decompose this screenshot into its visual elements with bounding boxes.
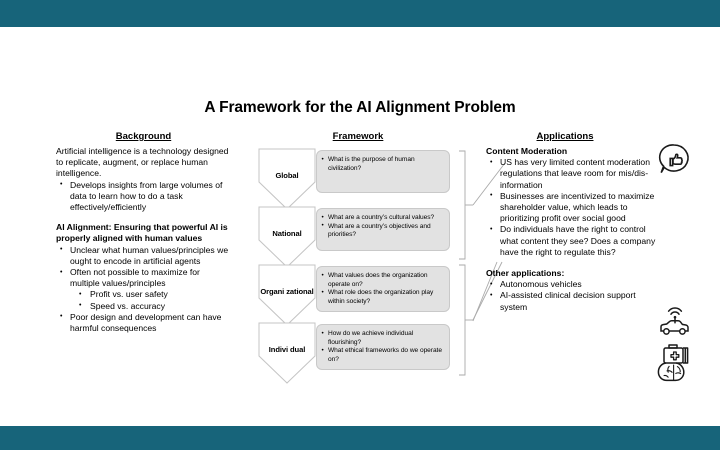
list-item: What are a country’s cultural values? xyxy=(322,214,443,223)
bottom-accent-bar xyxy=(0,426,720,450)
list-item: Develops insights from large volumes of … xyxy=(56,180,231,214)
list-item: Businesses are incentivized to maximize … xyxy=(486,191,661,225)
content-moderation-heading: Content Moderation xyxy=(486,146,661,157)
framework-level-national[interactable]: National What are a country’s cultural v… xyxy=(258,206,458,261)
list-item: What are a country’s objectives and prio… xyxy=(322,223,443,240)
framework-question-box: What is the purpose of human civilizatio… xyxy=(316,150,450,193)
clinical-brain-icon xyxy=(654,339,696,390)
list-item: US has very limited content moderation r… xyxy=(486,157,661,191)
sub-bullets: Profit vs. user safety Speed vs. accurac… xyxy=(70,289,231,311)
content-moderation-bullets: US has very limited content moderation r… xyxy=(486,157,661,258)
list-item: Profit vs. user safety xyxy=(70,289,231,300)
framework-question-box: What values does the organization operat… xyxy=(316,266,450,312)
list-item: Speed vs. accuracy xyxy=(70,301,231,312)
page-title: A Framework for the AI Alignment Problem xyxy=(0,99,720,117)
framework-level-label: Indivi dual xyxy=(258,322,316,377)
ai-alignment-heading: AI Alignment: Ensuring that powerful AI … xyxy=(56,222,231,244)
list-item: What values does the organization operat… xyxy=(322,272,443,289)
applications-heading: Applications xyxy=(486,131,644,142)
background-intro: Artificial intelligence is a technology … xyxy=(56,146,231,180)
bracket-upper xyxy=(459,151,465,259)
list-item: How do we achieve individual flourishing… xyxy=(322,330,443,347)
autonomous-car-icon xyxy=(656,306,694,341)
framework-question-box: How do we achieve individual flourishing… xyxy=(316,324,450,370)
list-item: Do individuals have the right to control… xyxy=(486,224,661,258)
framework-heading: Framework xyxy=(258,131,458,142)
list-item: Unclear what human values/principles we … xyxy=(56,245,231,267)
applications-column: Applications Content Moderation US has v… xyxy=(486,131,661,313)
list-item: Often not possible to maximize for multi… xyxy=(56,267,231,312)
framework-question-box: What are a country’s cultural values? Wh… xyxy=(316,208,450,251)
other-applications-heading: Other applications: xyxy=(486,268,661,279)
background-heading: Background xyxy=(56,131,231,142)
list-item: What role does the organization play wit… xyxy=(322,289,443,306)
list-item: Autonomous vehicles xyxy=(486,279,661,290)
ai-alignment-bullets: Unclear what human values/principles we … xyxy=(56,245,231,335)
list-item: Poor design and development can have har… xyxy=(56,312,231,334)
other-applications-bullets: Autonomous vehicles AI-assisted clinical… xyxy=(486,279,661,313)
framework-column: Framework Global What is the purpose of … xyxy=(258,131,458,380)
framework-level-label: National xyxy=(258,206,316,261)
list-item: AI-assisted clinical decision support sy… xyxy=(486,290,661,312)
bracket-lower xyxy=(459,265,465,375)
thumbs-up-speech-bubble-icon xyxy=(657,142,691,181)
list-item: What is the purpose of human civilizatio… xyxy=(322,156,443,173)
framework-level-individual[interactable]: Indivi dual How do we achieve individual… xyxy=(258,322,458,377)
framework-level-global[interactable]: Global What is the purpose of human civi… xyxy=(258,148,458,203)
background-intro-bullets: Develops insights from large volumes of … xyxy=(56,180,231,214)
framework-level-organizational[interactable]: Organi zational What values does the org… xyxy=(258,264,458,319)
list-item-label: Often not possible to maximize for multi… xyxy=(70,267,200,288)
list-item: What ethical frameworks do we operate on… xyxy=(322,347,443,364)
framework-rows: Global What is the purpose of human civi… xyxy=(258,148,458,377)
background-column: Background Artificial intelligence is a … xyxy=(56,131,231,334)
top-accent-bar xyxy=(0,0,720,27)
framework-level-label: Global xyxy=(258,148,316,203)
framework-level-label: Organi zational xyxy=(258,264,316,319)
